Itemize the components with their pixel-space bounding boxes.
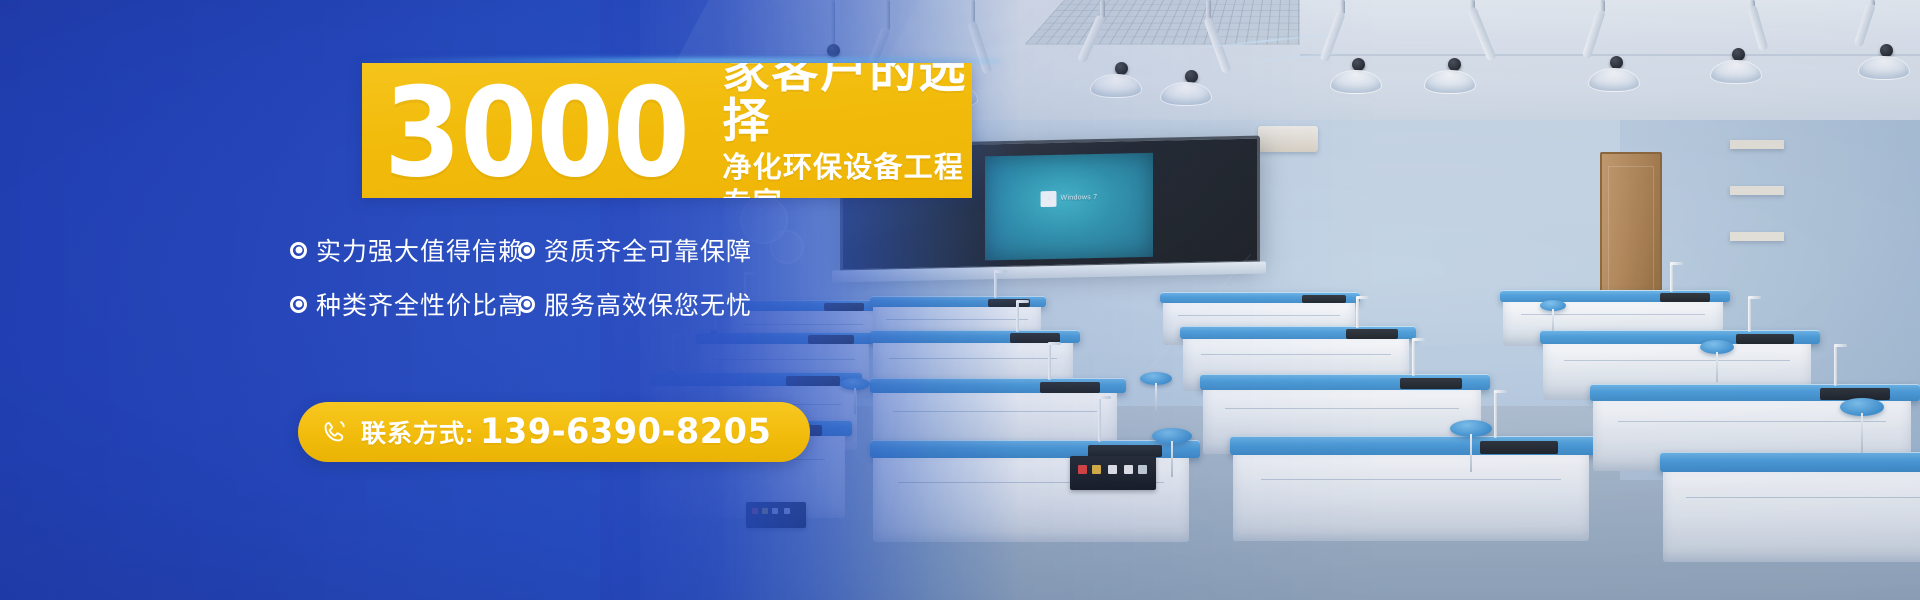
contact-label: 联系方式: [361, 414, 474, 450]
feature-item: 服务高效保您无忧 [518, 286, 752, 322]
feature-label: 资质齐全可靠保障 [544, 232, 752, 268]
headline-banner: 3000 家客户的选择 净化环保设备工程专家 [362, 63, 972, 198]
ring-bullet-icon [290, 242, 307, 259]
feature-label: 种类齐全性价比高 [316, 286, 524, 322]
ring-bullet-icon [518, 296, 535, 313]
headline-text-group: 家客户的选择 净化环保设备工程专家 [722, 63, 972, 198]
feature-row: 种类齐全性价比高 服务高效保您无忧 [290, 286, 810, 322]
headline-secondary: 净化环保设备工程专家 [722, 150, 972, 198]
customer-count: 3000 [384, 81, 689, 187]
feature-item: 实力强大值得信赖 [290, 232, 518, 268]
contact-number: 139-6390-8205 [480, 412, 771, 452]
ring-bullet-icon [518, 242, 535, 259]
ring-bullet-icon [290, 296, 307, 313]
feature-item: 种类齐全性价比高 [290, 286, 518, 322]
feature-label: 服务高效保您无忧 [544, 286, 752, 322]
feature-label: 实力强大值得信赖 [316, 232, 524, 268]
phone-icon [320, 417, 350, 447]
feature-list: 实力强大值得信赖 资质齐全可靠保障 种类齐全性价比高 服务高效保您无忧 [290, 232, 810, 340]
feature-item: 资质齐全可靠保障 [518, 232, 752, 268]
feature-row: 实力强大值得信赖 资质齐全可靠保障 [290, 232, 810, 268]
headline-primary: 家客户的选择 [722, 63, 972, 146]
contact-pill[interactable]: 联系方式: 139-6390-8205 [298, 402, 810, 462]
banner-content: 3000 家客户的选择 净化环保设备工程专家 实力强大值得信赖 资质齐全可靠保障 [0, 0, 1920, 600]
promo-banner: Windows 7 [0, 0, 1920, 600]
